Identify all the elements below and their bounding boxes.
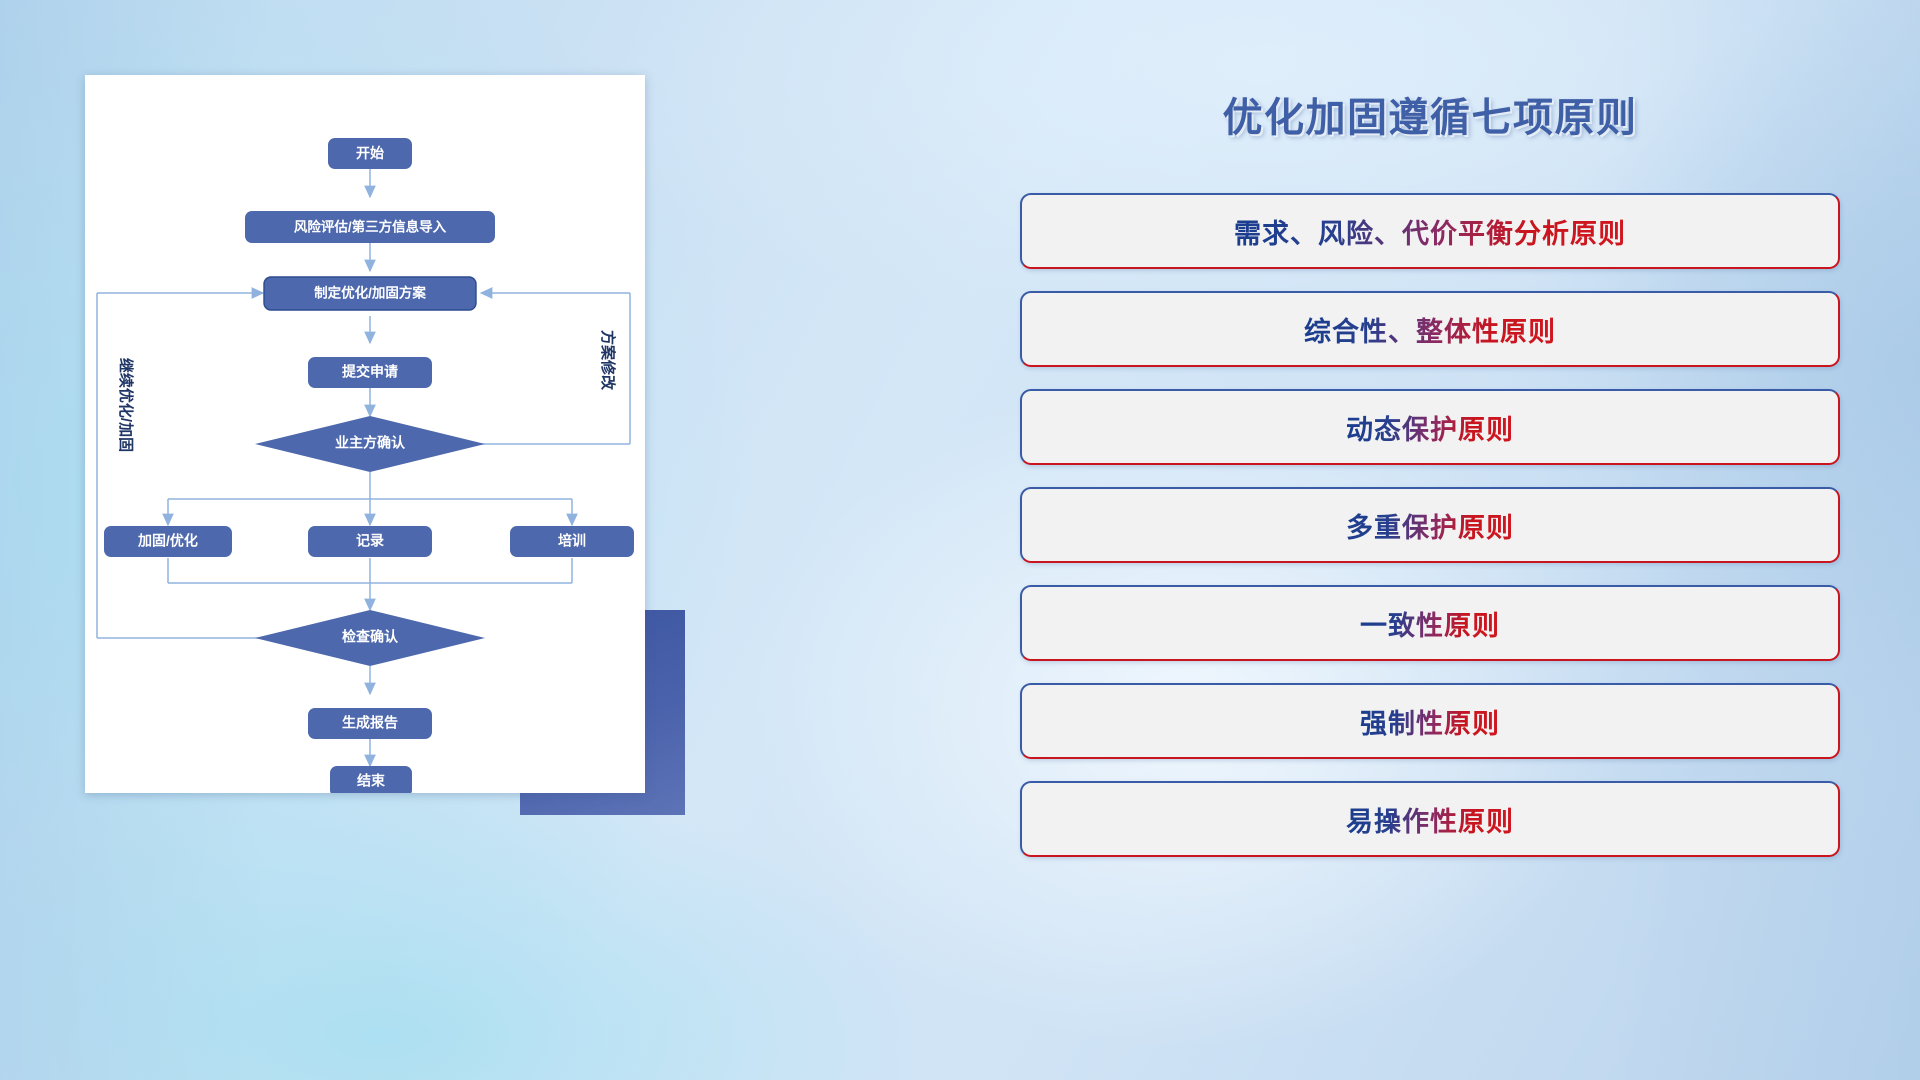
flow-node-label: 记录	[356, 533, 384, 549]
principle-card[interactable]: 多重保护原则	[1020, 487, 1840, 563]
flow-node-label: 制定优化/加固方案	[314, 285, 426, 301]
principles-panel: 优化加固遵循七项原则 需求、风险、代价平衡分析原则 综合性、整体性原则 动态保护…	[1020, 85, 1840, 1000]
flow-node-label: 检查确认	[342, 629, 399, 645]
flow-node-reinforce[interactable]: 加固/优化	[104, 526, 232, 557]
flow-node-owner-confirm[interactable]: 业主方确认	[255, 416, 485, 472]
flow-node-start[interactable]: 开始	[328, 138, 412, 169]
flow-node-submit[interactable]: 提交申请	[308, 357, 432, 388]
flow-node-training[interactable]: 培训	[510, 526, 634, 557]
principle-label: 一致性原则	[1360, 604, 1500, 643]
flow-node-label: 加固/优化	[137, 533, 198, 549]
flow-node-check-confirm[interactable]: 检查确认	[255, 610, 485, 666]
flow-side-label-plan-revision: 方案修改	[599, 330, 617, 391]
flow-node-risk-assessment[interactable]: 风险评估/第三方信息导入	[245, 211, 495, 243]
principle-card[interactable]: 动态保护原则	[1020, 389, 1840, 465]
principles-card-list: 需求、风险、代价平衡分析原则 综合性、整体性原则 动态保护原则 多重保护原则 一…	[1020, 193, 1840, 879]
principle-label: 需求、风险、代价平衡分析原则	[1234, 212, 1626, 251]
principle-label: 易操作性原则	[1346, 800, 1514, 839]
flow-node-label: 风险评估/第三方信息导入	[294, 219, 447, 235]
principle-card[interactable]: 综合性、整体性原则	[1020, 291, 1840, 367]
flow-node-label: 生成报告	[342, 715, 398, 731]
flow-node-label: 结束	[357, 773, 386, 789]
flow-node-label: 培训	[558, 533, 586, 549]
principle-card[interactable]: 易操作性原则	[1020, 781, 1840, 857]
flow-node-label: 提交申请	[342, 364, 398, 380]
flow-side-label-continue-optimize: 继续优化/加固	[117, 358, 135, 452]
principles-title: 优化加固遵循七项原则	[1020, 85, 1840, 143]
principle-card[interactable]: 强制性原则	[1020, 683, 1840, 759]
flowchart-diagram: 开始 风险评估/第三方信息导入 制定优化/加固方案 提交申请 业主方确认 加固/…	[85, 75, 645, 793]
principle-card[interactable]: 需求、风险、代价平衡分析原则	[1020, 193, 1840, 269]
flow-node-plan[interactable]: 制定优化/加固方案	[264, 277, 476, 310]
principle-label: 多重保护原则	[1346, 506, 1514, 545]
flow-node-report[interactable]: 生成报告	[308, 708, 432, 739]
principle-label: 综合性、整体性原则	[1304, 310, 1556, 349]
principle-label: 强制性原则	[1360, 702, 1500, 741]
flow-node-label: 开始	[356, 145, 384, 161]
flow-node-label: 业主方确认	[335, 435, 406, 451]
flow-node-end[interactable]: 结束	[330, 766, 412, 793]
flow-node-record[interactable]: 记录	[308, 526, 432, 557]
flowchart-panel: 开始 风险评估/第三方信息导入 制定优化/加固方案 提交申请 业主方确认 加固/…	[85, 75, 685, 815]
principle-label: 动态保护原则	[1346, 408, 1514, 447]
principle-card[interactable]: 一致性原则	[1020, 585, 1840, 661]
